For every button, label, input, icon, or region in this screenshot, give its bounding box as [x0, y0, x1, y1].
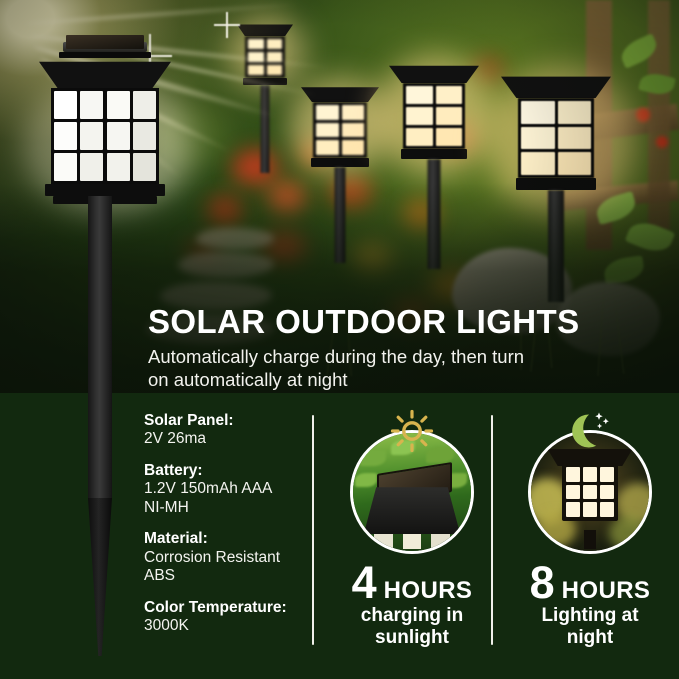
spec-label: Battery:	[144, 462, 312, 480]
lamp-pane	[374, 534, 393, 548]
solar-panel	[66, 35, 144, 49]
spec-label: Color Temperature:	[144, 599, 312, 617]
leaf	[360, 450, 386, 466]
lantern-glass-grid	[562, 463, 618, 521]
lantern-post-shaft	[88, 196, 112, 498]
glass-pane	[600, 467, 614, 482]
feature-caption-line1: charging in	[332, 606, 492, 627]
glass-pane	[133, 122, 156, 150]
spec-item-material: Material: Corrosion Resistant ABS	[144, 530, 312, 585]
feature-hours-lighting: 8 HOURS	[510, 562, 670, 605]
glass-pane	[600, 502, 614, 517]
hours-number: 4	[352, 562, 377, 603]
glass-pane	[583, 485, 597, 500]
glass-pane	[133, 153, 156, 181]
spec-item-battery: Battery: 1.2V 150mAh AAA NI-MH	[144, 462, 312, 517]
glass-pane	[54, 91, 77, 119]
glass-pane	[80, 153, 103, 181]
lantern-body	[51, 88, 159, 184]
moon-stars-icon	[566, 408, 614, 459]
headline-block: SOLAR OUTDOOR LIGHTS Automatically charg…	[148, 305, 668, 391]
divider-left	[312, 415, 314, 645]
glass-pane	[80, 91, 103, 119]
lantern-base	[45, 184, 165, 196]
glass-pane	[80, 122, 103, 150]
spec-value: ABS	[144, 567, 312, 586]
glass-pane	[583, 467, 597, 482]
feature-caption-line2: night	[510, 628, 670, 649]
spec-value: 2V 26ma	[144, 430, 312, 449]
glass-pane	[566, 485, 580, 500]
spec-item-color-temperature: Color Temperature: 3000K	[144, 599, 312, 636]
glass-pane	[107, 91, 130, 119]
headline-subtitle-line2: on automatically at night	[148, 369, 668, 392]
spec-label: Solar Panel:	[144, 412, 312, 430]
glass-pane	[54, 153, 77, 181]
spec-value: NI-MH	[144, 499, 312, 518]
headline-subtitle-line1: Automatically charge during the day, the…	[148, 346, 668, 369]
feature-charging: 4 HOURS charging in sunlight	[332, 430, 492, 649]
glass-pane	[133, 91, 156, 119]
hours-unit: HOURS	[384, 577, 473, 605]
lantern-face-right	[107, 91, 156, 181]
feature-caption-line2: sunlight	[332, 628, 492, 649]
product-marketing-image: Solar Panel: 2V 26ma Battery: 1.2V 150mA…	[0, 0, 679, 679]
headline-title: SOLAR OUTDOOR LIGHTS	[148, 305, 668, 338]
glass-pane	[566, 502, 580, 517]
glass-pane	[107, 153, 130, 181]
feature-caption-line1: Lighting at	[510, 606, 670, 627]
spec-item-solar-panel: Solar Panel: 2V 26ma	[144, 412, 312, 449]
spec-label: Material:	[144, 530, 312, 548]
lamp-cap-body	[364, 487, 461, 534]
lantern-face-left	[54, 91, 103, 181]
lantern-roof-top	[59, 52, 151, 58]
feature-lighting: 8 HOURS Lighting at night	[510, 430, 670, 649]
glass-pane	[107, 122, 130, 150]
lantern-post	[584, 530, 596, 549]
feature-hours-charging: 4 HOURS	[332, 562, 492, 605]
sun-icon	[389, 408, 435, 459]
leaf	[355, 473, 377, 487]
spec-value: 1.2V 150mAh AAA	[144, 480, 312, 499]
spec-value: 3000K	[144, 617, 312, 636]
lamp-pane	[431, 534, 450, 548]
spec-value: Corrosion Resistant	[144, 549, 312, 568]
glass-pane	[583, 502, 597, 517]
lantern-roof	[39, 56, 171, 88]
specifications-list: Solar Panel: 2V 26ma Battery: 1.2V 150mA…	[144, 412, 312, 649]
hours-unit: HOURS	[562, 577, 651, 605]
lamp-pane	[403, 534, 422, 548]
hours-number: 8	[530, 562, 555, 603]
glass-pane	[600, 485, 614, 500]
glass-pane	[54, 122, 77, 150]
glass-pane	[566, 467, 580, 482]
